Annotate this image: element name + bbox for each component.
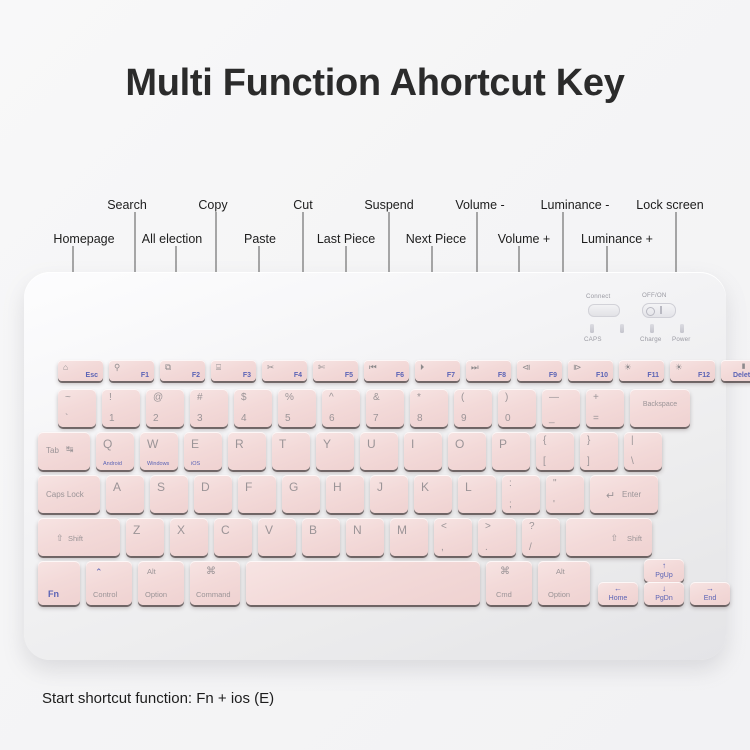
key-z[interactable]: Z [126,518,164,556]
key-f[interactable]: F [238,475,276,513]
key-f2[interactable]: ⧉F2 [160,360,205,381]
charge-led [650,324,654,333]
connect-button[interactable] [588,304,620,317]
key-f12[interactable]: ☀F12 [670,360,715,381]
key-1[interactable]: !1 [102,389,140,427]
key-label: Option [145,590,167,599]
key-f9[interactable]: ⧏F9 [517,360,562,381]
key-3[interactable]: #3 [190,389,228,427]
key-f11[interactable]: ☀F11 [619,360,664,381]
key-c[interactable]: C [214,518,252,556]
key-label: PgDn [644,595,684,602]
key-lower-legend: ` [65,413,68,424]
next-track-icon: ⏭ [471,363,479,372]
footer-note: Start shortcut function: Fn + ios (E) [42,690,274,707]
key-4[interactable]: $4 [234,389,272,427]
key-backspace[interactable]: Backspace [630,389,690,427]
callout-bottom-6: Luminance + [581,232,653,246]
key-label: Option [548,590,570,599]
key-upper-legend: # [197,392,203,403]
key-command-right[interactable]: ⌘Cmd [486,561,532,605]
key-punct[interactable]: >. [478,518,516,556]
key-lower-legend: \ [631,456,634,467]
key-p[interactable]: P [492,432,530,470]
shift-arrow-icon: ⇧ [56,533,64,544]
key-sublabel: iOS [191,461,200,467]
key-o[interactable]: O [448,432,486,470]
key-h[interactable]: H [326,475,364,513]
ctrl-icon: ⌃ [95,567,103,578]
key-letter: J [377,480,383,494]
callout-bottom-5: Volume + [498,232,550,246]
key-upper-legend: % [285,392,294,403]
key-upper-legend: | [631,435,634,446]
key-l[interactable]: L [458,475,496,513]
key-s[interactable]: S [150,475,188,513]
key-letter: H [333,480,342,494]
key-letter: T [279,437,286,451]
key-letter: C [221,523,230,537]
page-title: Multi Function Ahortcut Key [0,62,750,105]
key-k[interactable]: K [414,475,452,513]
callout-bottom-4: Next Piece [406,232,466,246]
key-label: Esc [86,372,98,379]
key-upper-legend: " [553,478,557,489]
key-f7[interactable]: ⏵F7 [415,360,460,381]
key-option-left[interactable]: AltOption [138,561,184,605]
key-9[interactable]: (9 [454,389,492,427]
key-e[interactable]: EiOS [184,432,222,470]
volume-down-icon: ⧏ [522,363,531,372]
key-label: PgUp [644,572,684,579]
key-lower-legend: 5 [285,413,291,424]
key-g[interactable]: G [282,475,320,513]
key-letter: X [177,523,185,537]
key-lower-legend: / [529,542,532,553]
key-upper-legend: @ [153,392,163,403]
arrow-up-icon: ↑ [644,561,684,570]
keyboard-product-image: Connect OFF/ON CAPS Charge Power ⌂Esc⚲F1… [24,272,726,660]
brightness-up-icon: ☀ [675,363,683,372]
key-label: F2 [192,372,200,379]
key-f5[interactable]: ✄F5 [313,360,358,381]
cut-icon: ✂ [267,363,274,372]
key-f4[interactable]: ✂F4 [262,360,307,381]
key-lower-legend: , [441,542,444,553]
arrow-right-icon: → [690,584,730,593]
key-punct[interactable]: ?/ [522,518,560,556]
key-letter: Q [103,437,112,451]
key-upper-legend: ) [505,392,508,403]
command-icon: ⌘ [206,566,216,577]
copy-icon: ⧉ [165,363,171,372]
key-f10[interactable]: ⧐F10 [568,360,613,381]
key-fn[interactable]: Fn [38,561,80,605]
key-alt-label: Alt [556,567,565,576]
key-letter: G [289,480,298,494]
key-upper-legend: : [509,478,512,489]
command-icon: ⌘ [500,566,510,577]
key-label: Control [93,590,117,599]
key-u[interactable]: U [360,432,398,470]
key-label: F8 [498,372,506,379]
key-label: Delete [721,372,750,379]
onoff-label: OFF/ON [642,292,667,299]
key-label: Cmd [496,590,512,599]
connect-label: Connect [586,293,610,300]
key-bracket[interactable]: }] [580,432,618,470]
key-=[interactable]: += [586,389,624,427]
lock-icon: ▮ [742,362,746,371]
key-letter: B [309,523,317,537]
key-esc[interactable]: ⌂Esc [58,360,103,381]
key-lower-legend: _ [549,413,555,424]
power-indicator-label: Power [672,336,691,343]
key-label: Tab [46,446,59,455]
brightness-down-icon: ☀ [624,363,632,372]
key-lower-legend: ; [509,499,512,510]
key-f3[interactable]: ⌸F3 [211,360,256,381]
key-upper-legend: < [441,521,447,532]
key-label: End [690,595,730,602]
callout-top-3: Suspend [364,198,413,212]
key-upper-legend: + [593,392,599,403]
key-letter: O [455,437,464,451]
key-label: Enter [622,490,641,499]
key-letter: E [191,437,199,451]
key-letter: R [235,437,244,451]
status-panel: Connect OFF/ON CAPS Charge Power [580,286,708,344]
key-j[interactable]: J [370,475,408,513]
key-a[interactable]: A [106,475,144,513]
key-label: F12 [698,372,710,379]
key-b[interactable]: B [302,518,340,556]
key-lower-legend: 9 [461,413,467,424]
key-lower-legend: 4 [241,413,247,424]
key-label: F4 [294,372,302,379]
key-y[interactable]: Y [316,432,354,470]
callout-top-5: Luminance - [541,198,610,212]
key-space[interactable] [246,561,480,605]
key-letter: A [113,480,121,494]
key-label: Caps Lock [46,490,84,499]
key-label: Home [598,595,638,602]
key-w[interactable]: WWindows [140,432,178,470]
key-delete[interactable]: ▮Delete [721,360,750,381]
key-upper-legend: ! [109,392,112,403]
key-i[interactable]: I [404,432,442,470]
key-bracket[interactable]: |\ [624,432,662,470]
key-tab[interactable]: Tab↹ [38,432,90,470]
key-label: F1 [141,372,149,379]
caps-led [590,324,594,333]
key-label: F3 [243,372,251,379]
key-f8[interactable]: ⏭F8 [466,360,511,381]
key-punct[interactable]: <, [434,518,472,556]
key-enter[interactable]: ↵Enter [590,475,658,513]
key-command-left[interactable]: ⌘Command [190,561,240,605]
charge-indicator-label: Charge [640,336,662,343]
key-label: Shift [68,534,83,543]
key-caps-lock[interactable]: Caps Lock [38,475,100,513]
callout-bottom-2: Paste [244,232,276,246]
key-t[interactable]: T [272,432,310,470]
key-n[interactable]: N [346,518,384,556]
key-home-arrow[interactable]: ←Home [598,582,638,605]
key-lower-legend: 6 [329,413,335,424]
key-bracket[interactable]: {[ [536,432,574,470]
key-punct[interactable]: "' [546,475,584,513]
power-switch[interactable] [642,303,676,318]
key-letter: F [245,480,252,494]
key-r[interactable]: R [228,432,266,470]
callout-top-0: Search [107,198,147,212]
volume-up-icon: ⧐ [573,363,582,372]
key-shift-right[interactable]: ⇧Shift [566,518,652,556]
key-label: F10 [596,372,608,379]
key-letter: M [397,523,407,537]
key-upper-legend: { [543,435,546,446]
key-label: Shift [627,534,642,543]
key-control[interactable]: ⌃Control [86,561,132,605]
callout-bottom-1: All election [142,232,202,246]
key-f1[interactable]: ⚲F1 [109,360,154,381]
key-m[interactable]: M [390,518,428,556]
key-upper-legend: * [417,392,421,403]
key-`[interactable]: ~` [58,389,96,427]
key-upper-legend: > [485,521,491,532]
arrow-down-icon: ↓ [644,584,684,593]
key-option-right[interactable]: AltOption [538,561,590,605]
callout-top-1: Copy [198,198,227,212]
key-6[interactable]: ^6 [322,389,360,427]
tab-arrow-icon: ↹ [66,444,74,455]
key-letter: S [157,480,165,494]
key-upper-legend: ( [461,392,464,403]
callout-top-2: Cut [293,198,312,212]
key-lower-legend: 3 [197,413,203,424]
key-shift-left[interactable]: ⇧Shift [38,518,120,556]
key-letter: L [465,480,472,494]
key-lower-legend: 8 [417,413,423,424]
key-7[interactable]: &7 [366,389,404,427]
key-letter: Y [323,437,331,451]
search-icon: ⚲ [114,363,120,372]
key-upper-legend: & [373,392,380,403]
key-upper-legend: $ [241,392,247,403]
key-f6[interactable]: ⏮F6 [364,360,409,381]
key-lower-legend: = [593,413,599,424]
key-letter: N [353,523,362,537]
key-lower-legend: 0 [505,413,511,424]
power-led [680,324,684,333]
shift-arrow-icon: ⇧ [610,533,618,544]
key-letter: U [367,437,376,451]
key-upper-legend: } [587,435,590,446]
key-lower-legend: 2 [153,413,159,424]
play-pause-icon: ⏵ [420,363,424,372]
key-sublabel: Windows [147,461,169,467]
key-2[interactable]: @2 [146,389,184,427]
key-lower-legend: 1 [109,413,115,424]
enter-arrow-icon: ↵ [606,489,615,502]
key-_[interactable]: —_ [542,389,580,427]
arrow-left-icon: ← [598,584,638,593]
home-icon: ⌂ [63,363,68,372]
key-lower-legend: 7 [373,413,379,424]
key-label: Command [196,590,231,599]
key-sublabel: Android [103,461,122,467]
key-label: F6 [396,372,404,379]
key-letter: Z [133,523,140,537]
key-lower-legend: . [485,542,488,553]
key-label: F7 [447,372,455,379]
callout-top-6: Lock screen [636,198,703,212]
key-letter: P [499,437,507,451]
key-v[interactable]: V [258,518,296,556]
key-label: F5 [345,372,353,379]
key-0[interactable]: )0 [498,389,536,427]
caps-indicator-label: CAPS [584,336,602,343]
key-alt-label: Alt [147,567,156,576]
key-label: F11 [647,372,659,379]
key-lower-legend: [ [543,456,546,467]
key-q[interactable]: QAndroid [96,432,134,470]
key-upper-legend: ~ [65,392,71,403]
key-lower-legend: ] [587,456,590,467]
callout-bottom-3: Last Piece [317,232,375,246]
prev-track-icon: ⏮ [369,363,377,372]
key-label: F9 [549,372,557,379]
key-lower-legend: ' [553,499,555,510]
key-letter: I [411,437,414,451]
key-letter: V [265,523,273,537]
key-x[interactable]: X [170,518,208,556]
key-letter: K [421,480,429,494]
key-upper-legend: ^ [329,392,334,403]
key-end-arrow[interactable]: →End [690,582,730,605]
key-d[interactable]: D [194,475,232,513]
key-label: Fn [48,589,59,599]
paste-icon: ⌸ [216,363,221,372]
key-punct[interactable]: :; [502,475,540,513]
key-label: Backspace [630,401,690,408]
key-letter: D [201,480,210,494]
bt-led [620,324,624,333]
key-8[interactable]: *8 [410,389,448,427]
suspend-icon: ✄ [318,363,325,372]
key-pgdn-arrow[interactable]: ↓PgDn [644,582,684,605]
callout-top-4: Volume - [455,198,504,212]
key-pgup-arrow[interactable]: ↑PgUp [644,559,684,582]
key-upper-legend: — [549,392,559,403]
callout-bottom-0: Homepage [53,232,114,246]
key-letter: W [147,437,158,451]
key-upper-legend: ? [529,521,535,532]
key-5[interactable]: %5 [278,389,316,427]
